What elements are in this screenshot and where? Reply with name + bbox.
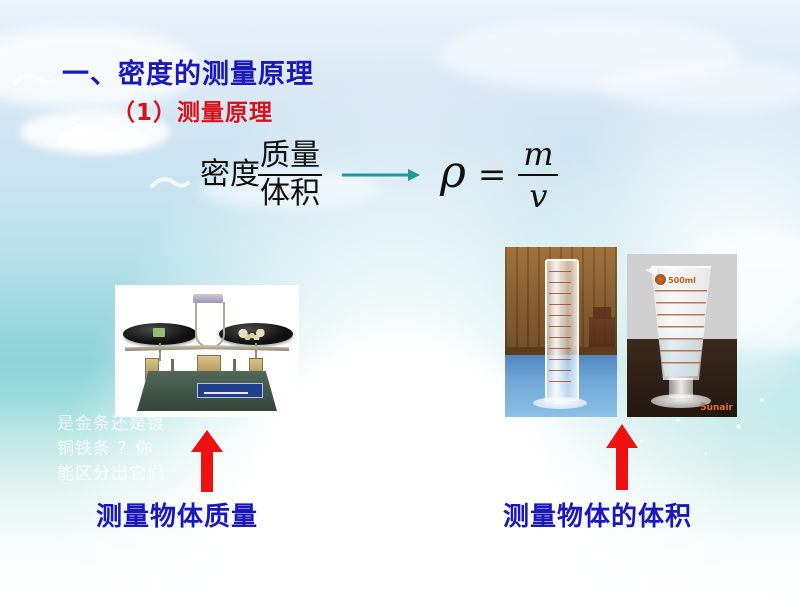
symbol-volume: v (529, 180, 547, 212)
symbol-rho: ρ (440, 151, 466, 199)
balance-nameplate (197, 383, 263, 398)
formula-numerator-mass: 质量 (258, 141, 322, 171)
weights-grains (237, 329, 267, 340)
formula-denominator-volume: 体积 (258, 179, 322, 209)
balance-beam (125, 345, 289, 351)
arrow-up-icon (190, 430, 224, 497)
photo-balance-scale (115, 285, 299, 417)
cloud-shape (440, 20, 740, 90)
caption-measure-mass: 测量物体质量 (96, 496, 258, 533)
photo-watermark: 5unair (700, 403, 733, 413)
cloud-shape (600, 60, 800, 110)
fraction-bar (518, 174, 558, 176)
graduation-marks (655, 290, 707, 374)
balance-scale-illustration (115, 285, 299, 417)
balance-hanger-left (159, 343, 161, 361)
density-formula: 密度 质量 体积 ρ = m v (200, 138, 558, 212)
arrow-up-icon (605, 424, 639, 495)
subtitle: （1）测量原理 (112, 93, 273, 127)
slide-canvas: 一、密度的测量原理 （1）测量原理 密度 质量 体积 ρ = m v (0, 0, 800, 600)
graduation-marks (549, 271, 571, 391)
formula-word-density: 密度 (200, 160, 260, 190)
page-title: 一、密度的测量原理 (62, 52, 314, 91)
equals-sign: = (478, 158, 507, 192)
balance-fork (195, 302, 225, 348)
cylinder-foot (533, 397, 587, 409)
bird-icon (12, 72, 56, 88)
photo-measuring-beaker: 500ml 5unair (627, 254, 737, 417)
arrow-right-icon (342, 167, 420, 183)
cloud-shape (60, 128, 150, 150)
photo-graduated-cylinder (505, 247, 617, 417)
beaker-capacity-label: 500ml (660, 274, 704, 288)
bird-icon (150, 176, 190, 190)
formula-fraction-symbols: m v (518, 138, 558, 212)
caption-measure-volume: 测量物体的体积 (503, 496, 692, 533)
formula-fraction-chinese: 质量 体积 (258, 141, 322, 209)
symbolic-formula: ρ = m v (440, 138, 558, 212)
balance-base (137, 371, 277, 411)
symbol-mass: m (523, 138, 553, 170)
sample-object (153, 328, 165, 337)
